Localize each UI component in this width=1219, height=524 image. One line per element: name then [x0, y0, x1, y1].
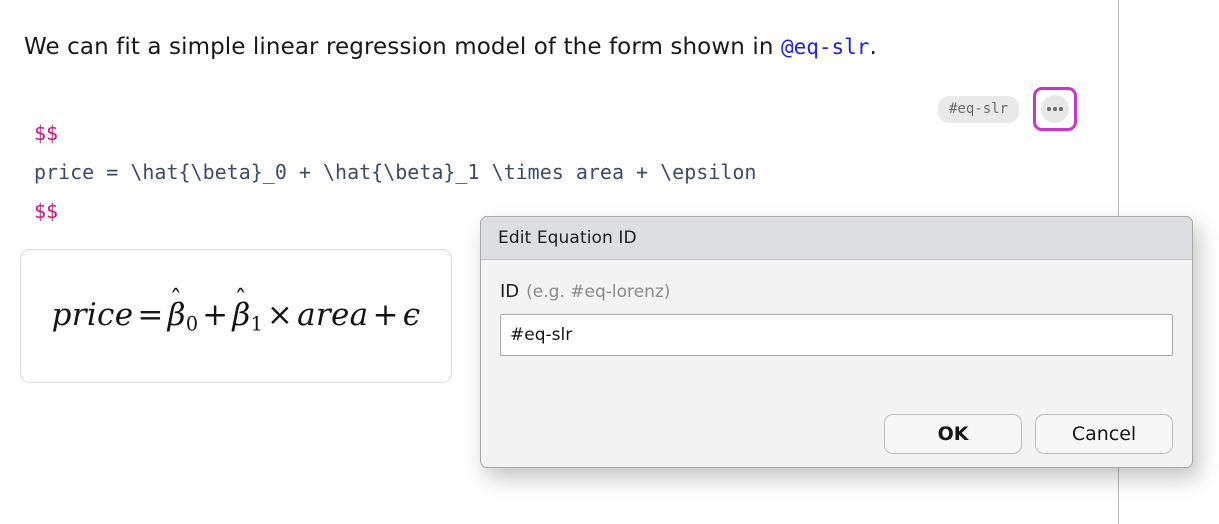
equation-lhs: price	[52, 297, 134, 333]
equation-plus-1: +	[198, 297, 232, 333]
math-preview-box: price=ˆβ0+ˆβ1×area+ϵ	[20, 249, 452, 383]
prose-text-after: .	[869, 34, 876, 60]
equation-source-block[interactable]: $$ price = \hat{\beta}_0 + \hat{\beta}_1…	[34, 114, 756, 231]
equation-rhs-variable: area	[297, 297, 368, 333]
equation-equals: =	[133, 297, 167, 333]
math-close-delimiter: $$	[34, 199, 58, 223]
dialog-body: ID(e.g. #eq-lorenz)	[481, 260, 1192, 414]
prose-paragraph[interactable]: We can fit a simple linear regression mo…	[24, 32, 877, 63]
id-field-label: ID(e.g. #eq-lorenz)	[500, 281, 1173, 302]
editor-surface: We can fit a simple linear regression mo…	[0, 0, 1219, 524]
edit-equation-id-dialog: Edit Equation ID ID(e.g. #eq-lorenz) OK …	[480, 216, 1193, 468]
equation-id-input[interactable]	[500, 314, 1173, 356]
equation-menu-button[interactable]	[1033, 87, 1077, 131]
beta0-subscript: 0	[186, 312, 198, 335]
ellipsis-icon	[1041, 95, 1069, 123]
beta1-subscript: 1	[251, 312, 263, 335]
beta1-hat-term: ˆβ	[232, 297, 250, 333]
math-open-delimiter: $$	[34, 121, 58, 145]
rendered-equation: price=ˆβ0+ˆβ1×area+ϵ	[52, 297, 421, 335]
prose-text-before: We can fit a simple linear regression mo…	[24, 34, 781, 60]
cross-reference-link[interactable]: @eq-slr	[781, 35, 870, 59]
latex-source-line: price = \hat{\beta}_0 + \hat{\beta}_1 \t…	[34, 160, 756, 184]
cancel-button[interactable]: Cancel	[1035, 414, 1173, 454]
equation-times-icon: ×	[263, 297, 297, 333]
beta0-hat-term: ˆβ	[168, 297, 186, 333]
id-label-hint: (e.g. #eq-lorenz)	[526, 282, 670, 302]
hat-accent-icon: ˆ	[170, 285, 183, 314]
dialog-titlebar: Edit Equation ID	[481, 217, 1192, 260]
dialog-title: Edit Equation ID	[498, 228, 637, 248]
id-label-text: ID	[500, 281, 519, 302]
ok-button[interactable]: OK	[884, 414, 1022, 454]
equation-id-badge[interactable]: #eq-slr	[938, 96, 1019, 123]
dialog-button-row: OK Cancel	[481, 414, 1192, 467]
equation-toolbar: #eq-slr	[938, 87, 1077, 131]
equation-epsilon: ϵ	[403, 297, 421, 333]
hat-accent-icon: ˆ	[234, 285, 247, 314]
equation-plus-2: +	[368, 297, 402, 333]
